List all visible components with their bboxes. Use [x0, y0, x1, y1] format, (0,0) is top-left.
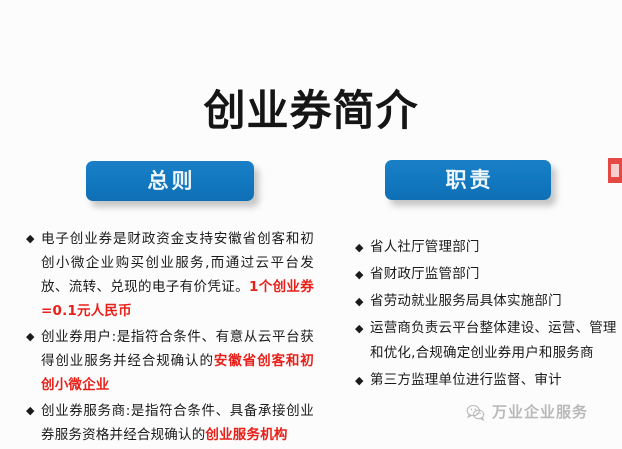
bullet-list-general-rules: ◆电子创业券是财政资金支持安徽省创客和初创小微企业购买创业服务,而通过云平台发放… [26, 227, 314, 449]
bullet-list-responsibilities: ◆省人社厅管理部门◆省财政厅监管部门◆省劳动就业服务局具体实施部门◆运营商负责云… [355, 235, 617, 395]
section-header-label: 总则 [145, 171, 196, 192]
wechat-icon [466, 403, 485, 422]
page-title: 创业券简介 [0, 85, 622, 137]
section-header-responsibilities: 职责 [385, 160, 551, 200]
diamond-bullet-icon: ◆ [355, 368, 370, 393]
section-header-general-rules: 总则 [86, 161, 254, 201]
body-text: 第三方监理单位进行监督、审计 [370, 372, 562, 388]
diamond-bullet-icon: ◆ [26, 227, 41, 251]
diamond-bullet-icon: ◆ [355, 235, 370, 260]
bullet-item: ◆第三方监理单位进行监督、审计 [355, 368, 617, 393]
slide-canvas: 创业券简介 总则 职责 ◆电子创业券是财政资金支持安徽省创客和初创小微企业购买创… [0, 0, 622, 438]
bullet-item: ◆省劳动就业服务局具体实施部门 [355, 289, 617, 314]
bullet-text: 创业券用户:是指符合条件、有意从云平台获得创业服务并经合规确认的安徽省创客和初创… [41, 325, 314, 397]
bullet-item: ◆省财政厅监管部门 [355, 262, 617, 287]
watermark: 万业企业服务 [466, 403, 588, 422]
bullet-text: 运营商负责云平台整体建设、运营、管理和优化,合规确定创业券用户和服务商 [370, 316, 617, 366]
bullet-item: ◆电子创业券是财政资金支持安徽省创客和初创小微企业购买创业服务,而通过云平台发放… [26, 227, 314, 323]
bullet-text: 创业券服务商:是指符合条件、具备承接创业券服务资格并经合规确认的创业服务机构 [41, 399, 314, 447]
bullet-text: 第三方监理单位进行监督、审计 [370, 368, 617, 393]
highlighted-text: 创业服务机构 [205, 427, 287, 443]
body-text: 省劳动就业服务局具体实施部门 [370, 293, 562, 309]
body-text: 运营商负责云平台整体建设、运营、管理和优化,合规确定创业券用户和服务商 [370, 320, 617, 361]
bullet-text: 电子创业券是财政资金支持安徽省创客和初创小微企业购买创业服务,而通过云平台发放、… [41, 227, 314, 323]
diamond-bullet-icon: ◆ [26, 399, 41, 423]
bullet-text: 省财政厅监管部门 [370, 262, 617, 287]
bullet-item: ◆省人社厅管理部门 [355, 235, 617, 260]
watermark-label: 万业企业服务 [492, 403, 588, 422]
bullet-text: 省劳动就业服务局具体实施部门 [370, 289, 617, 314]
diamond-bullet-icon: ◆ [355, 289, 370, 314]
bullet-item: ◆创业券服务商:是指符合条件、具备承接创业券服务资格并经合规确认的创业服务机构 [26, 399, 314, 447]
body-text: 省人社厅管理部门 [370, 239, 480, 255]
diamond-bullet-icon: ◆ [26, 325, 41, 349]
bullet-item: ◆运营商负责云平台整体建设、运营、管理和优化,合规确定创业券用户和服务商 [355, 316, 617, 366]
diamond-bullet-icon: ◆ [355, 262, 370, 287]
body-text: 省财政厅监管部门 [370, 266, 480, 282]
diamond-bullet-icon: ◆ [355, 316, 370, 341]
bullet-item: ◆创业券用户:是指符合条件、有意从云平台获得创业服务并经合规确认的安徽省创客和初… [26, 325, 314, 397]
bullet-text: 省人社厅管理部门 [370, 235, 617, 260]
section-header-label: 职责 [443, 170, 494, 191]
edge-sticker-decoration [608, 158, 622, 183]
